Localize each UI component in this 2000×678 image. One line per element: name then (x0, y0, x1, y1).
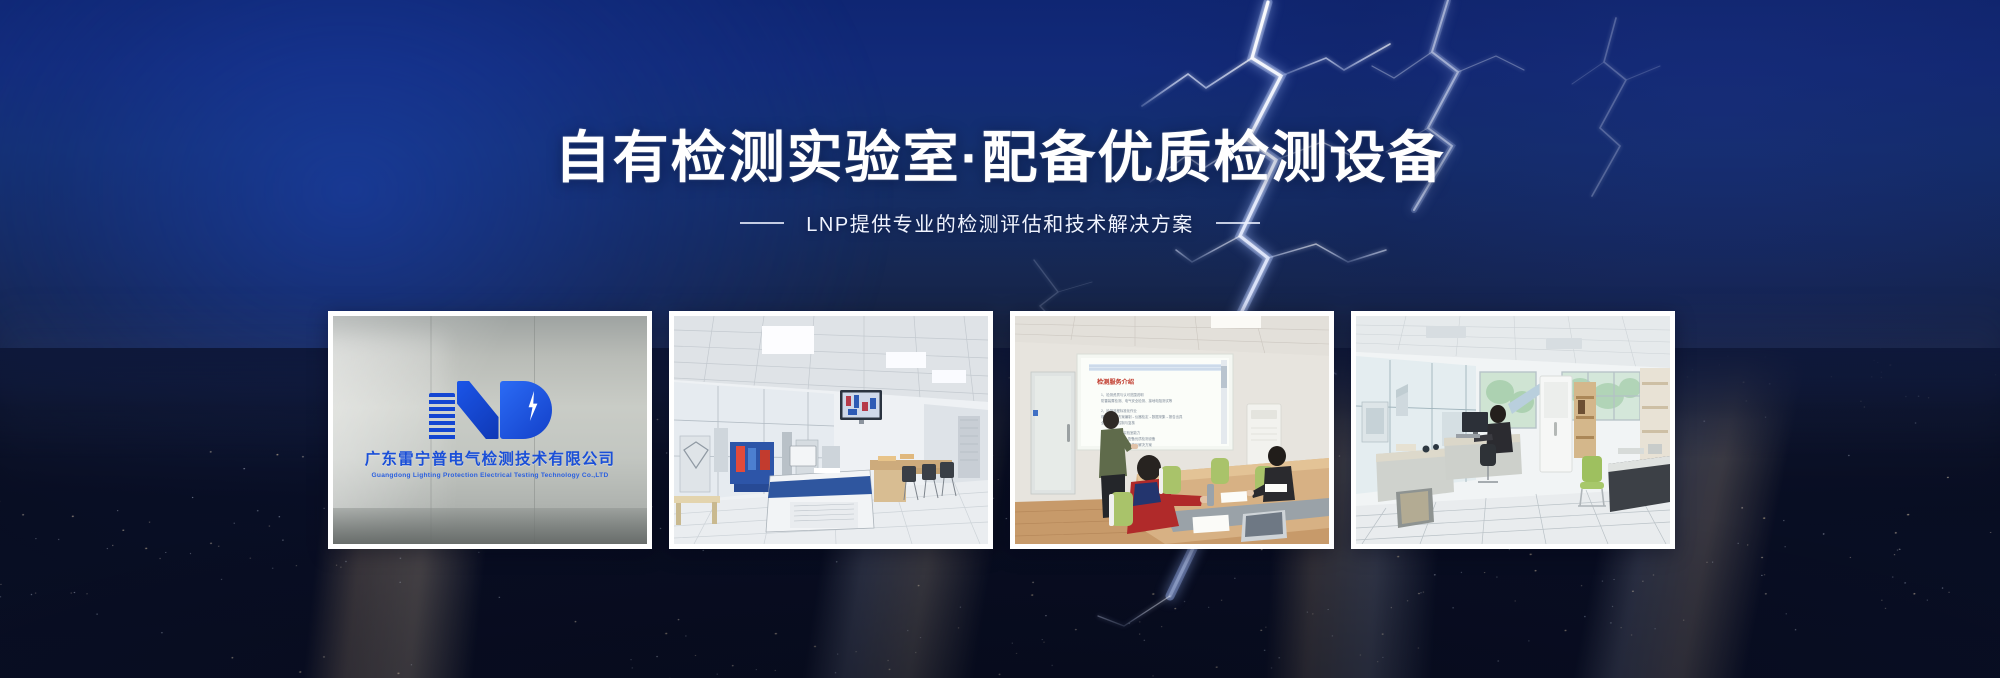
logo-letter-p (500, 381, 552, 439)
photo-office-workspace (1356, 316, 1670, 544)
svg-text:2、检测流程标准化作业: 2、检测流程标准化作业 (1101, 408, 1137, 413)
photo-company-logo-wall: 广东雷宁普电气检测技术有限公司 Guangdong Lighting Prote… (333, 316, 647, 544)
rule-right-icon (1216, 222, 1260, 224)
svg-text:1、检测资质与认可范围说明: 1、检测资质与认可范围说明 (1101, 392, 1144, 397)
gallery-item-meeting-room-presentation[interactable]: 检测服务介绍 1、检测资质与认可范围说明 防雷装置检测、电气安全检测、接地电阻测… (1010, 311, 1334, 549)
headline-block: 自有检测实验室·配备优质检测设备 LNP提供专业的检测评估和技术解决方案 (0, 128, 2000, 237)
gallery-item-company-logo-wall[interactable]: 广东雷宁普电气检测技术有限公司 Guangdong Lighting Prote… (328, 311, 652, 549)
meeting-room-illustration: 检测服务介绍 1、检测资质与认可范围说明 防雷装置检测、电气安全检测、接地电阻测… (1015, 316, 1329, 544)
gallery-item-testing-laboratory[interactable] (669, 311, 993, 549)
svg-text:防雷装置检测、电气安全检测、接地电阻测试等: 防雷装置检测、电气安全检测、接地电阻测试等 (1101, 398, 1173, 403)
photo-testing-laboratory (674, 316, 988, 544)
laboratory-illustration (674, 316, 988, 544)
lnp-logo-icon (429, 381, 552, 439)
company-name-en: Guangdong Lighting Protection Electrical… (372, 472, 609, 479)
company-name-cn: 广东雷宁普电气检测技术有限公司 (365, 447, 616, 469)
photo-meeting-room-presentation: 检测服务介绍 1、检测资质与认可范围说明 防雷装置检测、电气安全检测、接地电阻测… (1015, 316, 1329, 544)
logo-letter-l (429, 393, 455, 439)
photo-gallery: 广东雷宁普电气检测技术有限公司 Guangdong Lighting Prote… (328, 311, 1672, 549)
page-subtitle: LNP提供专业的检测评估和技术解决方案 (806, 208, 1193, 237)
logo-letter-n (457, 381, 499, 439)
hero-banner: 自有检测实验室·配备优质检测设备 LNP提供专业的检测评估和技术解决方案 (0, 0, 2000, 678)
gallery-item-office-workspace[interactable] (1351, 311, 1675, 549)
rule-left-icon (740, 222, 784, 224)
subtitle-row: LNP提供专业的检测评估和技术解决方案 (0, 208, 2000, 237)
lightning-bolt-icon (527, 391, 540, 421)
office-illustration (1356, 316, 1670, 544)
svg-text:检测服务介绍: 检测服务介绍 (1097, 378, 1134, 386)
page-title: 自有检测实验室·配备优质检测设备 (0, 128, 2000, 188)
floor-strip (333, 508, 647, 544)
